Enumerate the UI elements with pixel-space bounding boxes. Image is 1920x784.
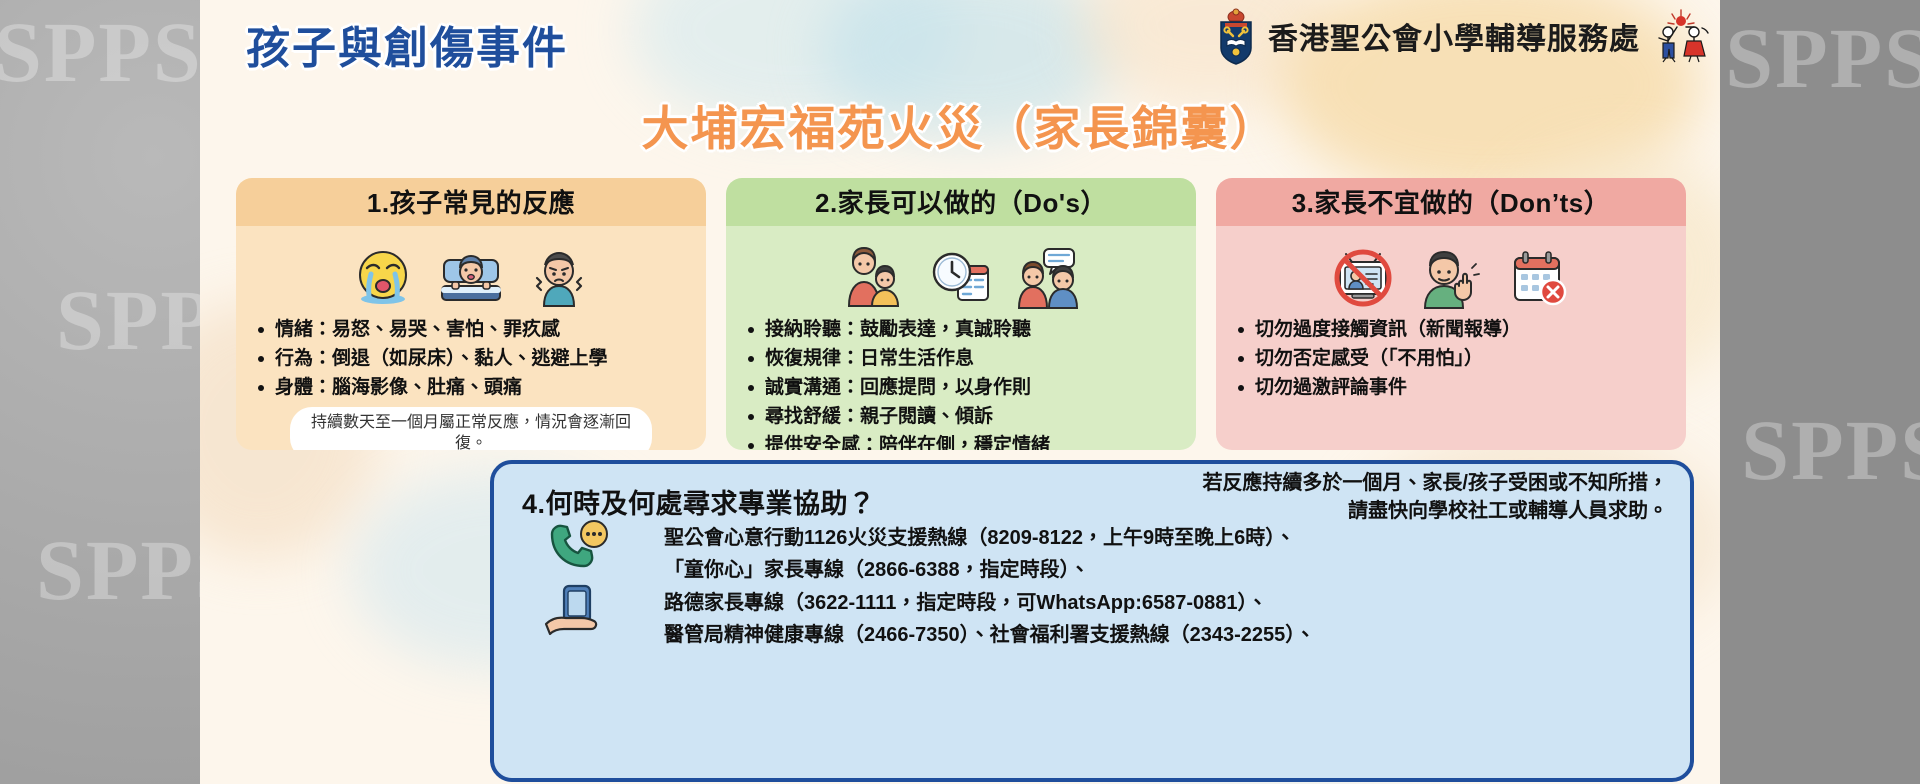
- watermark-text: SPPS: [0, 2, 203, 102]
- card-title: 3.家長不宜做的（Don’ts）: [1216, 178, 1686, 226]
- card-common-reactions: 1.孩子常見的反應: [236, 178, 706, 450]
- card-illustrations: [250, 236, 692, 310]
- list-item: 接納聆聽：鼓勵表達，真誠聆聽: [748, 318, 1182, 342]
- two-children-sun-logo-icon: [1650, 6, 1712, 66]
- help-note-line: 若反應持續多於一個月、家長/孩子受困或不知所措，: [1128, 470, 1668, 498]
- organisation-name: 香港聖公會小學輔導服務處: [1268, 14, 1640, 58]
- card-body: 接納聆聽：鼓勵表達，真誠聆聽 恢復規律：日常生活作息 誠實溝通：回應提問，以身作…: [726, 226, 1196, 450]
- slide-header: 孩子與創傷事件 香港聖公會小學輔導服務處: [200, 0, 1720, 86]
- list-item: 情緒：易怒、易哭、害怕、罪疚感: [258, 318, 692, 342]
- calendar-cancel-icon: [1508, 246, 1570, 310]
- card-bullet-list: 接納聆聽：鼓勵表達，真誠聆聽 恢復規律：日常生活作息 誠實溝通：回應提問，以身作…: [740, 318, 1182, 450]
- card-title: 2.家長可以做的（Do's）: [726, 178, 1196, 226]
- list-item: 路德家長專線（3622-1111，指定時段，可WhatsApp:6587-088…: [664, 587, 1676, 619]
- list-item: 切勿否定感受（「不用怕」）: [1238, 347, 1672, 371]
- card-parent-dos: 2.家長可以做的（Do's）: [726, 178, 1196, 450]
- anglican-crest-icon: [1214, 7, 1258, 65]
- list-item: 恢復規律：日常生活作息: [748, 347, 1182, 371]
- clock-calendar-icon: [930, 246, 992, 310]
- help-icons: [542, 520, 614, 640]
- list-item: 切勿過度接觸資訊（新聞報導）: [1238, 318, 1672, 342]
- list-item: 醫管局精神健康專線（2466-7350）、社會福利署支援熱線（2343-2255…: [664, 619, 1676, 651]
- list-item: 提供安全感：陪伴在側，穩定情緒: [748, 434, 1182, 450]
- two-people-talking-icon: [1018, 246, 1080, 310]
- cards-row: 1.孩子常見的反應: [236, 178, 1686, 450]
- watermark-text: SPPS: [1741, 400, 1920, 500]
- page-title: 孩子與創傷事件: [246, 12, 568, 76]
- watermark-text: SPPS: [1725, 8, 1920, 108]
- crying-face-icon: [352, 246, 414, 310]
- list-item: 尋找舒緩：親子閱讀、傾訴: [748, 405, 1182, 429]
- list-item: 誠實溝通：回應提問，以身作則: [748, 376, 1182, 400]
- card-illustrations: [1230, 236, 1672, 310]
- help-panel-title: 4.何時及何處尋求專業協助？: [522, 482, 876, 521]
- card-parent-donts: 3.家長不宜做的（Don’ts）: [1216, 178, 1686, 450]
- parent-hugging-child-icon: [842, 246, 904, 310]
- ringing-phone-icon: [542, 520, 614, 576]
- list-item: 行為：倒退（如尿床）、黏人、逃避上學: [258, 347, 692, 371]
- card-body: 切勿過度接觸資訊（新聞報導） 切勿否定感受（「不用怕」） 切勿過激評論事件: [1216, 226, 1686, 450]
- hand-holding-phone-icon: [542, 584, 614, 640]
- card-bullet-list: 切勿過度接觸資訊（新聞報導） 切勿否定感受（「不用怕」） 切勿過激評論事件: [1230, 318, 1672, 405]
- list-item: 身體：腦海影像、肚痛、頭痛: [258, 376, 692, 400]
- help-panel-note: 若反應持續多於一個月、家長/孩子受困或不知所措， 請盡快向學校社工或輔導人員求助…: [1128, 470, 1668, 525]
- card-note: 持續數天至一個月屬正常反應，情況會逐漸回復。: [290, 407, 652, 450]
- card-bullet-list: 情緒：易怒、易哭、害怕、罪疚感 行為：倒退（如尿床）、黏人、逃避上學 身體：腦海…: [250, 318, 692, 405]
- infographic-slide: 孩子與創傷事件 香港聖公會小學輔導服務處: [200, 0, 1720, 784]
- card-body: 情緒：易怒、易哭、害怕、罪疚感 行為：倒退（如尿床）、黏人、逃避上學 身體：腦海…: [236, 226, 706, 450]
- child-in-bed-icon: [440, 246, 502, 310]
- card-illustrations: [740, 236, 1182, 310]
- card-title: 1.孩子常見的反應: [236, 178, 706, 226]
- no-tv-news-icon: [1332, 246, 1394, 310]
- list-item: 「童你心」家長專線（2866-6388，指定時段）、: [664, 554, 1676, 586]
- organisation-branding: 香港聖公會小學輔導服務處: [1214, 6, 1712, 66]
- list-item: 聖公會心意行動1126火災支援熱線（8209-8122，上午9時至晚上6時）、: [664, 522, 1676, 554]
- stop-hand-person-icon: [1420, 246, 1482, 310]
- list-item: 切勿過激評論事件: [1238, 376, 1672, 400]
- help-panel: 4.何時及何處尋求專業協助？ 若反應持續多於一個月、家長/孩子受困或不知所措， …: [490, 460, 1694, 782]
- help-hotline-list: 聖公會心意行動1126火災支援熱線（8209-8122，上午9時至晚上6時）、 …: [664, 522, 1676, 652]
- page-subtitle: 大埔宏福苑火災（家長錦囊）: [200, 90, 1720, 159]
- anxious-child-icon: [528, 246, 590, 310]
